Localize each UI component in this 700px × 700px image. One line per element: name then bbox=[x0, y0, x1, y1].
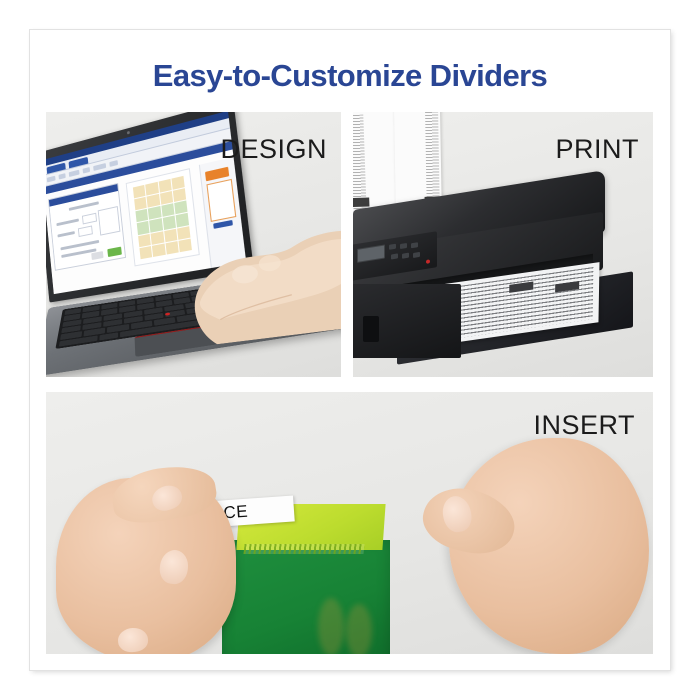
dialog-field-label bbox=[57, 231, 74, 237]
dialog-title-line bbox=[69, 201, 99, 211]
dialog-cancel-button[interactable] bbox=[91, 251, 103, 260]
toolbar-chip bbox=[109, 160, 118, 167]
toolbar-chip bbox=[69, 170, 80, 177]
printer-button[interactable] bbox=[400, 243, 407, 249]
grid-cell bbox=[139, 246, 152, 259]
grid-cell bbox=[165, 241, 178, 255]
dialog-input[interactable] bbox=[78, 225, 93, 237]
sidebar-button[interactable] bbox=[213, 220, 233, 229]
finger-shadow bbox=[346, 604, 372, 654]
panel-design: DESIGN bbox=[46, 112, 341, 377]
hand-on-keyboard bbox=[180, 215, 341, 347]
left-hand bbox=[56, 478, 236, 654]
toolbar-chip bbox=[93, 163, 106, 171]
right-hand bbox=[449, 438, 649, 654]
printer-lcd-display bbox=[357, 244, 385, 262]
page-title: Easy-to-Customize Dividers bbox=[30, 58, 670, 94]
grid-cell bbox=[164, 228, 177, 242]
grid-cell bbox=[152, 243, 165, 257]
dialog-field-label bbox=[56, 218, 79, 226]
panel-label-insert: INSERT bbox=[533, 410, 635, 441]
panel-label-print: PRINT bbox=[556, 134, 640, 165]
printer-button[interactable] bbox=[389, 244, 396, 250]
dialog-preview-box bbox=[98, 206, 121, 236]
toolbar-chip bbox=[47, 176, 56, 183]
finger-nail bbox=[158, 548, 190, 586]
paper-label-block bbox=[353, 197, 369, 207]
printer-button[interactable] bbox=[413, 252, 420, 258]
dialog-apply-button[interactable] bbox=[107, 247, 122, 257]
finger-shadow bbox=[318, 598, 344, 654]
printer-button[interactable] bbox=[391, 253, 398, 259]
panel-print: PRINT bbox=[353, 112, 653, 377]
printer-power-led-icon bbox=[426, 259, 430, 264]
sidebar-template-thumb[interactable] bbox=[206, 179, 236, 222]
product-feature-card: Easy-to-Customize Dividers bbox=[30, 30, 670, 670]
tab-stitching bbox=[243, 544, 364, 554]
printer-cartridge-door[interactable] bbox=[363, 316, 379, 342]
webcam-icon bbox=[127, 131, 130, 135]
finger-nail bbox=[117, 627, 149, 653]
printer-button[interactable] bbox=[402, 253, 409, 259]
grid-cell bbox=[138, 234, 151, 247]
printer-button[interactable] bbox=[411, 242, 418, 248]
design-dialog bbox=[48, 183, 126, 271]
dialog-input[interactable] bbox=[82, 213, 97, 225]
printer-base bbox=[353, 284, 461, 358]
toolbar-chip bbox=[58, 173, 65, 179]
grid-cell bbox=[151, 231, 164, 245]
panel-insert: FINANCE INSERT bbox=[46, 392, 653, 654]
toolbar-chip bbox=[83, 167, 91, 174]
panel-label-design: DESIGN bbox=[220, 134, 327, 165]
